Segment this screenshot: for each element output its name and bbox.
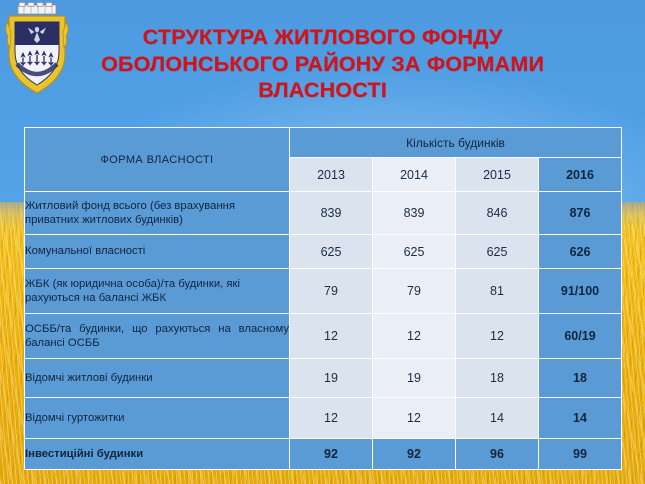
table-header-row-group: ФОРМА ВЛАСНОСТІ Кількість будинків — [25, 128, 622, 158]
row-label: ОСББ/та будинки, що рахуються на власном… — [25, 314, 290, 359]
row-value-2014: 12 — [373, 398, 456, 439]
table-row: Відомчі гуртожитки 12 12 14 14 — [25, 398, 622, 439]
table-row: Відомчі житлові будинки 19 19 18 18 — [25, 359, 622, 398]
title-line-3: ВЛАСНОСТІ — [0, 77, 645, 104]
row-value-2016: 626 — [539, 235, 622, 269]
row-value-2014: 839 — [373, 192, 456, 235]
mural-crown-icon — [18, 3, 56, 15]
row-value-2013: 12 — [290, 314, 373, 359]
row-value-2014: 625 — [373, 235, 456, 269]
header-year-2015: 2015 — [456, 158, 539, 192]
header-number-of-buildings: Кількість будинків — [290, 128, 622, 158]
title-line-2: ОБОЛОНСЬКОГО РАЙОНУ ЗА ФОРМАМИ — [0, 51, 645, 78]
row-value-2016: 14 — [539, 398, 622, 439]
row-label: Комунальної власності — [25, 235, 290, 269]
row-value-2013: 92 — [290, 439, 373, 470]
row-value-2014: 79 — [373, 269, 456, 314]
housing-stock-table-wrapper: ФОРМА ВЛАСНОСТІ Кількість будинків 2013 … — [24, 127, 621, 470]
table-row: ЖБК (як юридична особа)/та будинки, які … — [25, 269, 622, 314]
table-row: Комунальної власності 625 625 625 626 — [25, 235, 622, 269]
housing-stock-table: ФОРМА ВЛАСНОСТІ Кількість будинків 2013 … — [24, 127, 622, 470]
table-body: Житловий фонд всього (без врахування при… — [25, 192, 622, 470]
row-label: Житловий фонд всього (без врахування при… — [25, 192, 290, 235]
row-label: ЖБК (як юридична особа)/та будинки, які … — [25, 269, 290, 314]
header-year-2016: 2016 — [539, 158, 622, 192]
row-value-2013: 12 — [290, 398, 373, 439]
slide-canvas: СТРУКТУРА ЖИТЛОВОГО ФОНДУ ОБОЛОНСЬКОГО Р… — [0, 0, 645, 484]
row-value-2015: 14 — [456, 398, 539, 439]
page-title: СТРУКТУРА ЖИТЛОВОГО ФОНДУ ОБОЛОНСЬКОГО Р… — [0, 24, 645, 104]
title-line-1: СТРУКТУРА ЖИТЛОВОГО ФОНДУ — [0, 24, 645, 51]
row-label: Відомчі гуртожитки — [25, 398, 290, 439]
table-row-total: Інвестиційні будинки 92 92 96 99 — [25, 439, 622, 470]
row-value-2016: 60/19 — [539, 314, 622, 359]
row-value-2016: 99 — [539, 439, 622, 470]
row-value-2015: 625 — [456, 235, 539, 269]
row-value-2015: 96 — [456, 439, 539, 470]
row-value-2013: 625 — [290, 235, 373, 269]
row-value-2016: 876 — [539, 192, 622, 235]
row-value-2015: 846 — [456, 192, 539, 235]
row-label: Інвестиційні будинки — [25, 439, 290, 470]
row-value-2013: 839 — [290, 192, 373, 235]
table-head: ФОРМА ВЛАСНОСТІ Кількість будинків 2013 … — [25, 128, 622, 192]
row-value-2015: 81 — [456, 269, 539, 314]
table-row: ОСББ/та будинки, що рахуються на власном… — [25, 314, 622, 359]
row-value-2013: 19 — [290, 359, 373, 398]
row-value-2014: 92 — [373, 439, 456, 470]
header-year-2013: 2013 — [290, 158, 373, 192]
row-value-2014: 19 — [373, 359, 456, 398]
header-year-2014: 2014 — [373, 158, 456, 192]
row-value-2013: 79 — [290, 269, 373, 314]
row-value-2016: 18 — [539, 359, 622, 398]
row-value-2014: 12 — [373, 314, 456, 359]
row-label: Відомчі житлові будинки — [25, 359, 290, 398]
row-value-2016: 91/100 — [539, 269, 622, 314]
table-row: Житловий фонд всього (без врахування при… — [25, 192, 622, 235]
header-form-of-ownership: ФОРМА ВЛАСНОСТІ — [25, 128, 290, 192]
row-value-2015: 12 — [456, 314, 539, 359]
row-value-2015: 18 — [456, 359, 539, 398]
